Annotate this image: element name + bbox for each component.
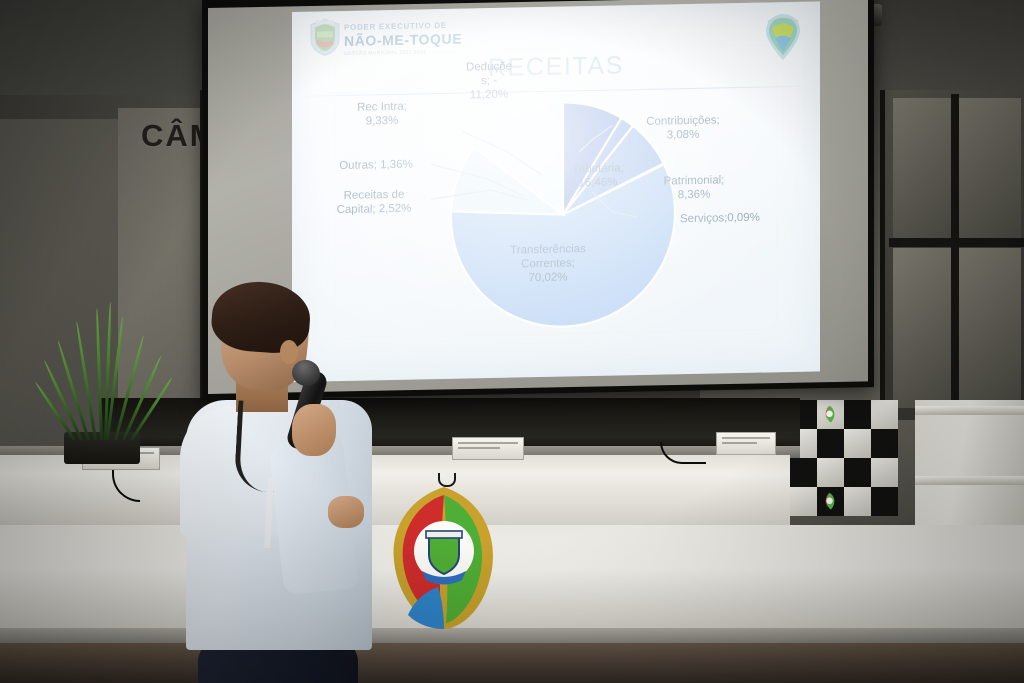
presenter-other-hand bbox=[328, 496, 364, 528]
presenter-ear bbox=[280, 340, 298, 364]
pie-label-receitas-capital: Receitas de Capital; 2,52% bbox=[312, 187, 436, 217]
pie-label-rec-intra: Rec Intra; 9,33% bbox=[330, 99, 434, 129]
municipal-emblem bbox=[378, 473, 510, 633]
pie-label-deducoes: Deduçõe s; - 11,20% bbox=[444, 59, 534, 103]
pie-label-outras: Outras; 1,36% bbox=[316, 157, 436, 173]
window-frame bbox=[880, 90, 1024, 420]
presentation-room-photo: CÂM bbox=[0, 0, 1024, 683]
decorative-plant bbox=[60, 300, 146, 440]
stage-edge bbox=[0, 628, 1024, 644]
leaf-logo-icon bbox=[822, 405, 837, 424]
pie-label-contribuicoes: Contribuições; 3,08% bbox=[628, 113, 738, 143]
stage-floor bbox=[0, 643, 1024, 683]
presenter bbox=[180, 282, 390, 683]
municipality-logo-text: PODER EXECUTIVO DE NÃO-ME-TOQUE GESTÃO M… bbox=[344, 21, 462, 57]
leaf-logo-icon bbox=[822, 492, 837, 511]
pie-label-tributaria: Tributária; 16,46% bbox=[548, 161, 648, 191]
logo-line-2: NÃO-ME-TOQUE bbox=[344, 31, 462, 49]
presenter-hand-holding-mic bbox=[292, 404, 336, 456]
leaf-emblem-icon bbox=[382, 483, 506, 631]
checkered-wall-panel bbox=[790, 400, 898, 515]
pie-label-patrimonial: Patrimonial; 8,36% bbox=[644, 173, 744, 203]
stage-wall bbox=[0, 525, 1024, 635]
pie-label-transferencias: Transferências Correntes; 70,02% bbox=[488, 242, 608, 286]
desk-nameplate bbox=[716, 432, 776, 455]
desk-nameplate bbox=[452, 437, 524, 460]
pie-label-servicos: Serviços;0,09% bbox=[680, 210, 790, 226]
coat-of-arms-icon bbox=[308, 17, 342, 58]
presenter-hair bbox=[210, 279, 313, 356]
